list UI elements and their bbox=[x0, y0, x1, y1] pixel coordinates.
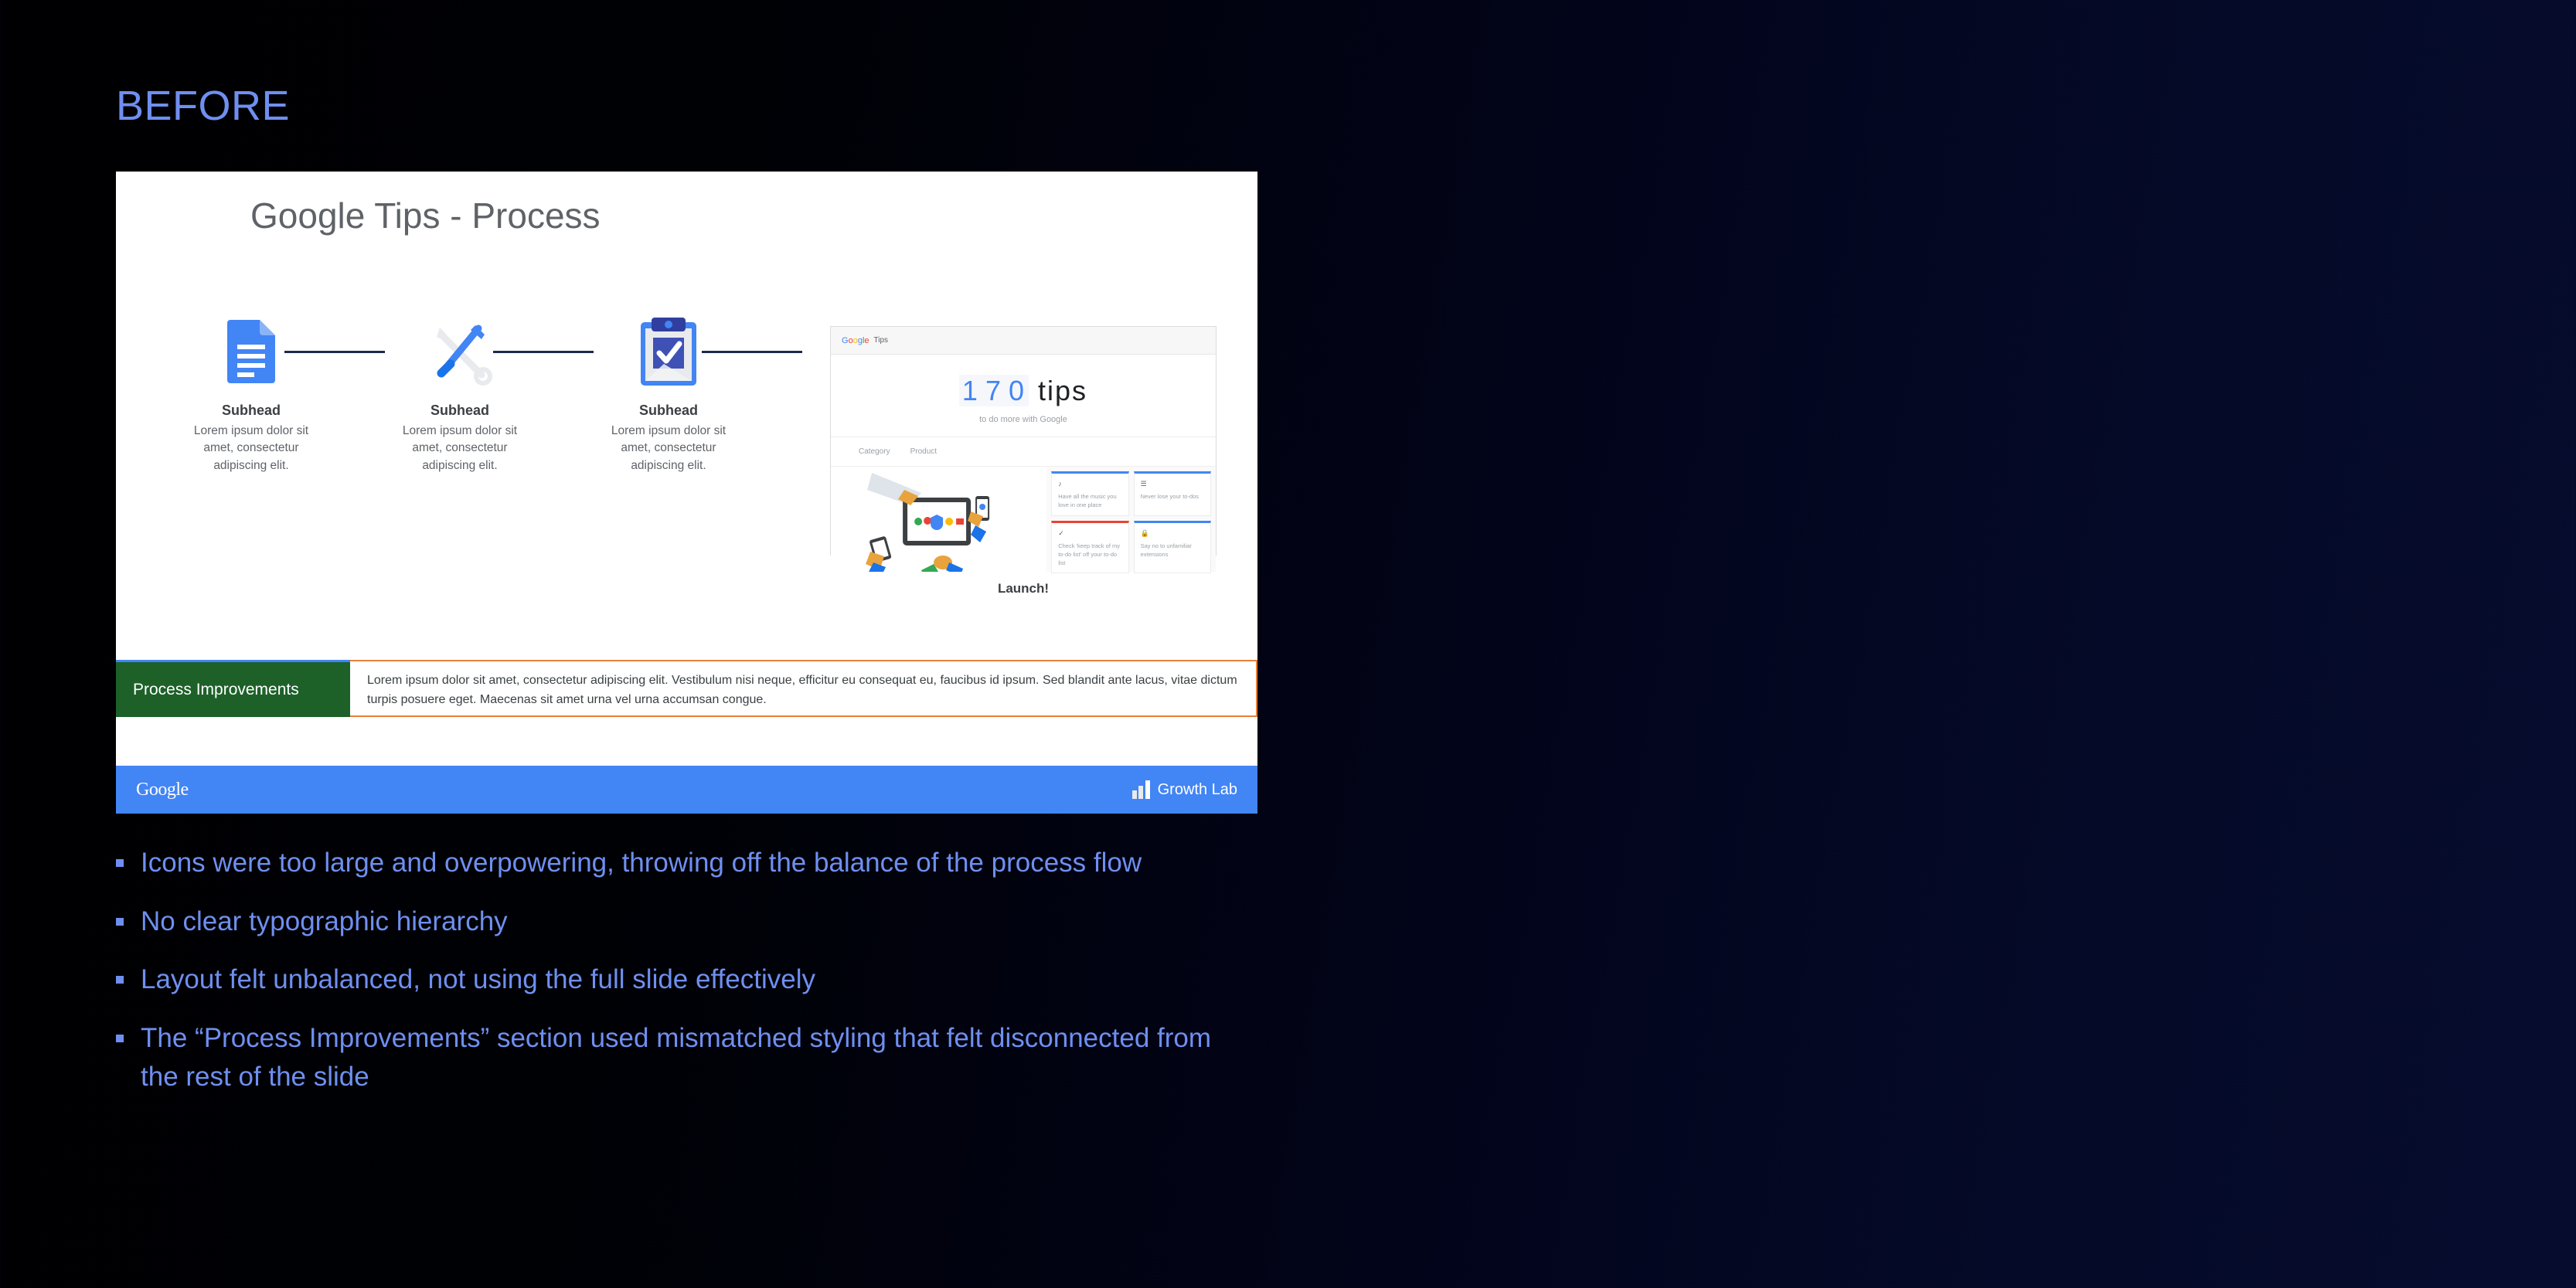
comparison-page: BEFORE Google Tips - Process bbox=[0, 0, 2576, 1288]
mock-filter-product[interactable]: Product bbox=[910, 447, 937, 456]
google-docs-icon-art bbox=[227, 320, 275, 383]
tip-card-text: Check 'keep track of my to-do list' off … bbox=[1058, 542, 1120, 566]
tip-card-text: Have all the music you love in one place bbox=[1058, 493, 1116, 508]
list-item: Layout felt unbalanced, not using the fu… bbox=[116, 960, 1229, 999]
before-bullet-list: Icons were too large and overpowering, t… bbox=[116, 844, 1229, 1116]
bar-chart-icon bbox=[1132, 780, 1150, 799]
tip-card[interactable]: ♪ Have all the music you love in one pla… bbox=[1051, 471, 1128, 516]
clipboard-check-icon bbox=[572, 311, 765, 392]
tips-digit: 1 bbox=[959, 375, 982, 406]
flow-step-subhead: Subhead bbox=[155, 403, 348, 420]
music-icon: ♪ bbox=[1058, 479, 1121, 489]
bullet-marker-icon bbox=[116, 918, 124, 926]
google-logo: Google bbox=[136, 780, 189, 800]
tips-unit: tips bbox=[1038, 375, 1087, 406]
list-item: Icons were too large and overpowering, t… bbox=[116, 844, 1229, 882]
after-column: AFTER Google Tips - Process Subhead Lore… bbox=[1288, 0, 2576, 1288]
mock-content: ♪ Have all the music you love in one pla… bbox=[831, 467, 1216, 572]
bullet-text: Layout felt unbalanced, not using the fu… bbox=[141, 960, 815, 999]
mock-brand-suffix: Tips bbox=[874, 336, 889, 345]
tip-card[interactable]: 🔒 Say no to unfamiliar extensions bbox=[1134, 521, 1211, 574]
tip-card-text: Say no to unfamiliar extensions bbox=[1141, 542, 1192, 558]
flow-step: Subhead Lorem ipsum dolor sit amet, cons… bbox=[363, 311, 556, 474]
before-slide-footer: Google Growth Lab bbox=[116, 766, 1257, 814]
mock-filter-category[interactable]: Category bbox=[859, 447, 890, 456]
flow-step: Subhead Lorem ipsum dolor sit amet, cons… bbox=[572, 311, 765, 474]
process-improvements-body: Lorem ipsum dolor sit amet, consectetur … bbox=[350, 660, 1257, 717]
google-docs-icon bbox=[155, 311, 348, 392]
growth-lab-logo-group: Growth Lab bbox=[1132, 780, 1237, 799]
mock-tips-count: 170 tips bbox=[831, 375, 1216, 407]
tips-digit: 0 bbox=[1006, 375, 1029, 406]
mock-tip-cards: ♪ Have all the music you love in one pla… bbox=[1046, 467, 1216, 572]
list-item: The “Process Improvements” section used … bbox=[116, 1019, 1229, 1096]
flow-step: Subhead Lorem ipsum dolor sit amet, cons… bbox=[155, 311, 348, 474]
clipboard-check-icon-art bbox=[641, 318, 696, 386]
tips-digit: 7 bbox=[982, 375, 1006, 406]
bullet-text: The “Process Improvements” section used … bbox=[141, 1019, 1229, 1096]
before-launch-label: Launch! bbox=[830, 581, 1217, 596]
flow-step-body: Lorem ipsum dolor sit amet, consectetur … bbox=[155, 423, 348, 474]
before-slide: Google Tips - Process bbox=[116, 172, 1257, 814]
tools-icon-art bbox=[424, 316, 495, 387]
tools-icon bbox=[363, 311, 556, 392]
before-process-improvements: Process Improvements Lorem ipsum dolor s… bbox=[116, 660, 1257, 717]
before-column: BEFORE Google Tips - Process bbox=[0, 0, 1288, 1288]
tip-card-text: Never lose your to-dos bbox=[1141, 493, 1199, 500]
flow-step-subhead: Subhead bbox=[363, 403, 556, 420]
before-slide-title: Google Tips - Process bbox=[250, 195, 601, 236]
process-improvements-tag: Process Improvements bbox=[116, 660, 350, 717]
list-item: No clear typographic hierarchy bbox=[116, 902, 1229, 941]
devices-illustration bbox=[831, 467, 1046, 572]
mock-illustration bbox=[831, 467, 1046, 572]
bullet-text: No clear typographic hierarchy bbox=[141, 902, 508, 941]
tip-card[interactable]: ✓ Check 'keep track of my to-do list' of… bbox=[1051, 521, 1128, 574]
flow-step-body: Lorem ipsum dolor sit amet, consectetur … bbox=[572, 423, 765, 474]
bullet-marker-icon bbox=[116, 859, 124, 867]
before-section-label: BEFORE bbox=[116, 85, 290, 127]
bullet-text: Icons were too large and overpowering, t… bbox=[141, 844, 1142, 882]
bullet-marker-icon bbox=[116, 976, 124, 984]
mock-hero: 170 tips to do more with Google bbox=[831, 355, 1216, 437]
mock-browser-bar: Google Tips bbox=[831, 327, 1216, 355]
bullet-marker-icon bbox=[116, 1035, 124, 1042]
tip-card[interactable]: ☰ Never lose your to-dos bbox=[1134, 471, 1211, 516]
before-tips-screenshot: Google Tips 170 tips to do more with Goo… bbox=[830, 326, 1217, 556]
lock-icon: 🔒 bbox=[1141, 528, 1204, 539]
list-icon: ☰ bbox=[1141, 479, 1204, 489]
flow-step-subhead: Subhead bbox=[572, 403, 765, 420]
growth-lab-label: Growth Lab bbox=[1158, 781, 1237, 799]
mock-filters: Category Product bbox=[831, 437, 1216, 467]
flow-step-body: Lorem ipsum dolor sit amet, consectetur … bbox=[363, 423, 556, 474]
mock-tagline: to do more with Google bbox=[831, 415, 1216, 424]
before-process-flow: Subhead Lorem ipsum dolor sit amet, cons… bbox=[116, 311, 796, 542]
check-icon: ✓ bbox=[1058, 528, 1121, 539]
